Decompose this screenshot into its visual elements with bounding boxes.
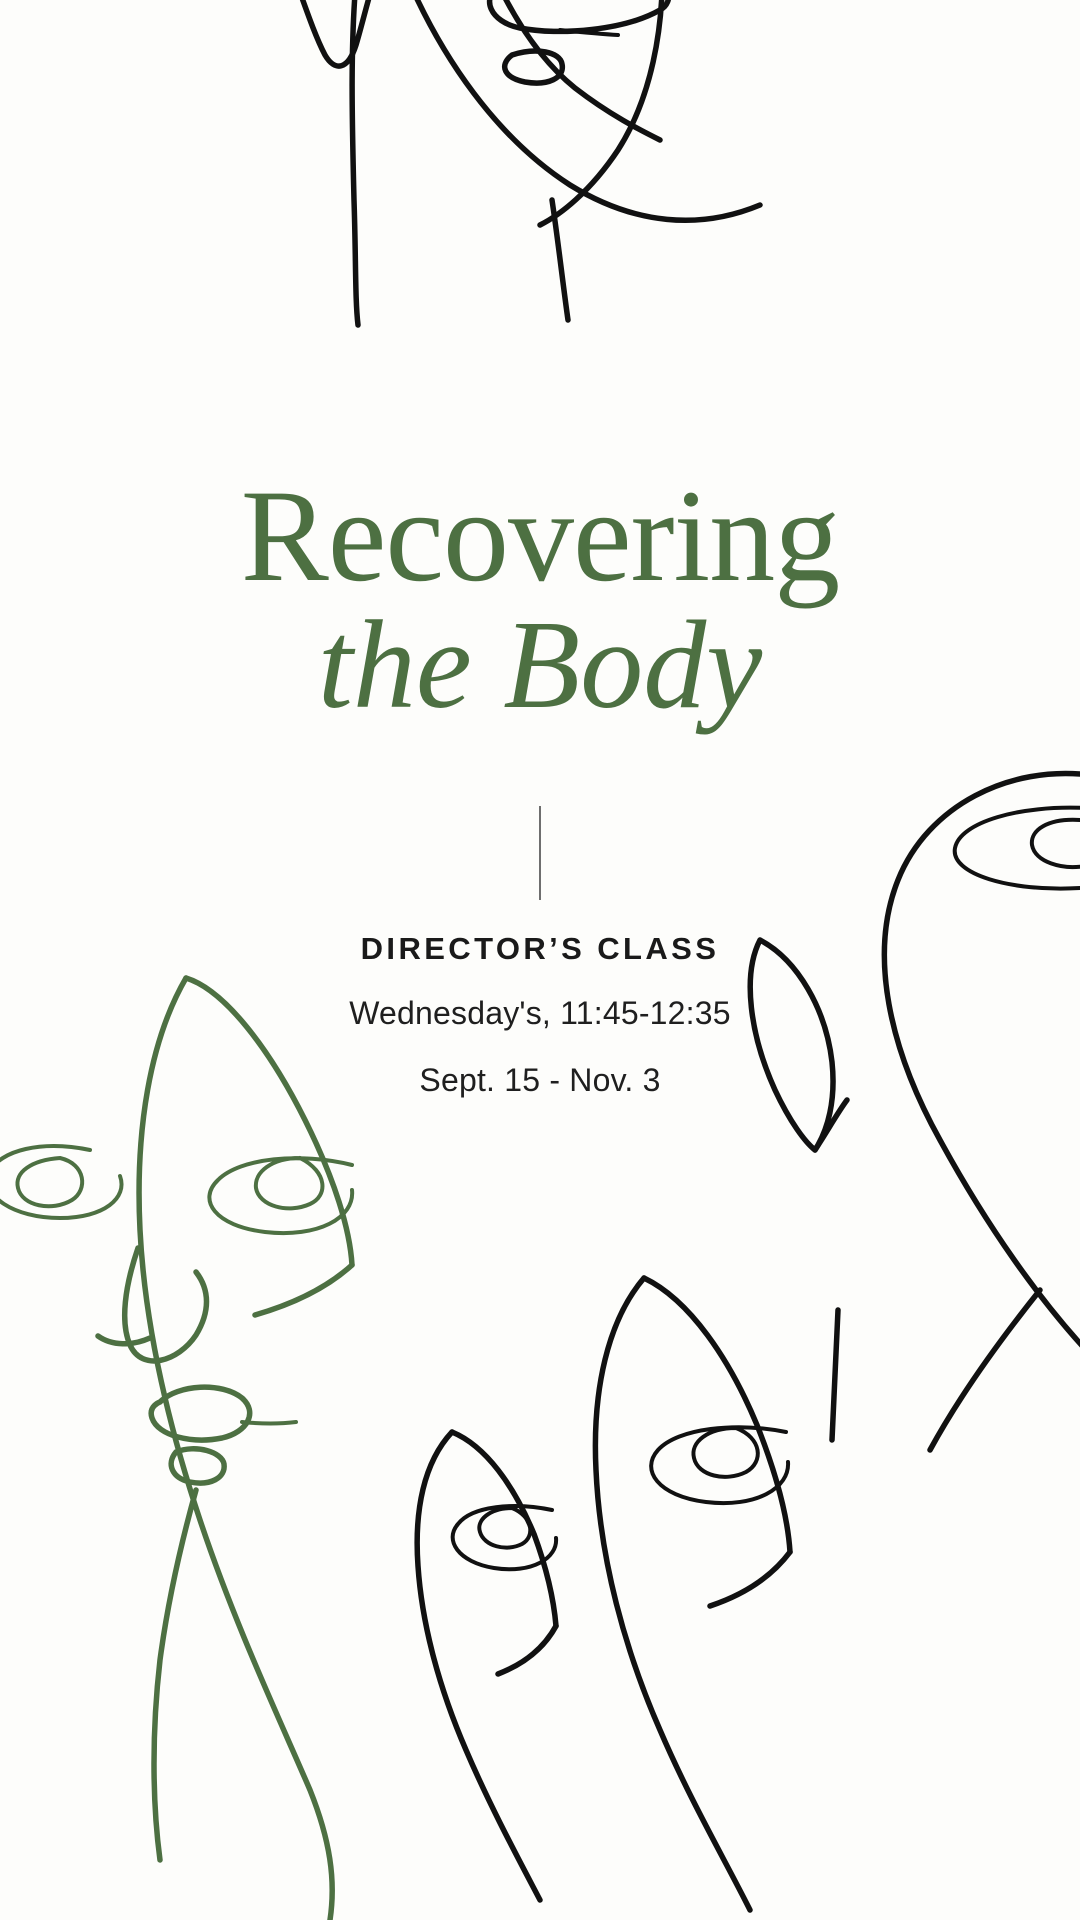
schedule-text: Wednesday's, 11:45-12:35 [0, 995, 1080, 1032]
page-title: Recovering the Body [0, 473, 1080, 727]
vertical-divider [539, 806, 541, 900]
headline-line-2: the Body [0, 606, 1080, 727]
details-block: DIRECTOR’S CLASS Wednesday's, 11:45-12:3… [0, 930, 1080, 1099]
poster-content: Recovering the Body DIRECTOR’S CLASS Wed… [0, 0, 1080, 1920]
dates-text: Sept. 15 - Nov. 3 [0, 1062, 1080, 1099]
class-kicker-label: DIRECTOR’S CLASS [0, 930, 1080, 967]
poster-canvas: Recovering the Body DIRECTOR’S CLASS Wed… [0, 0, 1080, 1920]
headline-line-1: Recovering [0, 473, 1080, 600]
